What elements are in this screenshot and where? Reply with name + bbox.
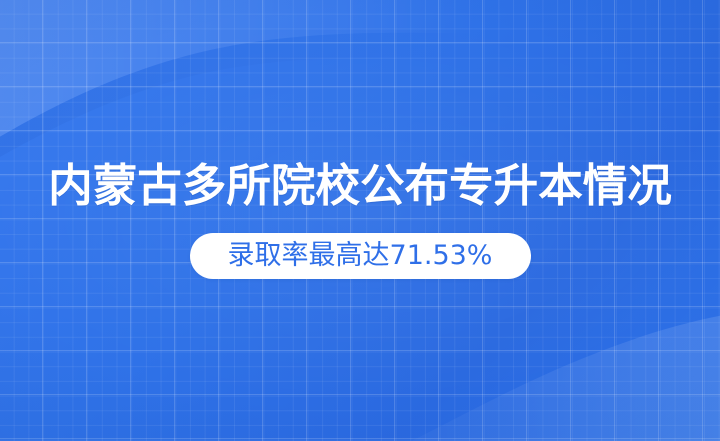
subtitle-pill: 录取率最高达71.53%: [190, 233, 531, 279]
banner-headline: 内蒙古多所院校公布专升本情况: [48, 163, 672, 208]
banner-content: 内蒙古多所院校公布专升本情况 录取率最高达71.53%: [0, 0, 720, 441]
promo-banner: 内蒙古多所院校公布专升本情况 录取率最高达71.53%: [0, 0, 720, 441]
subtitle-text: 录取率最高达71.53%: [228, 242, 493, 269]
